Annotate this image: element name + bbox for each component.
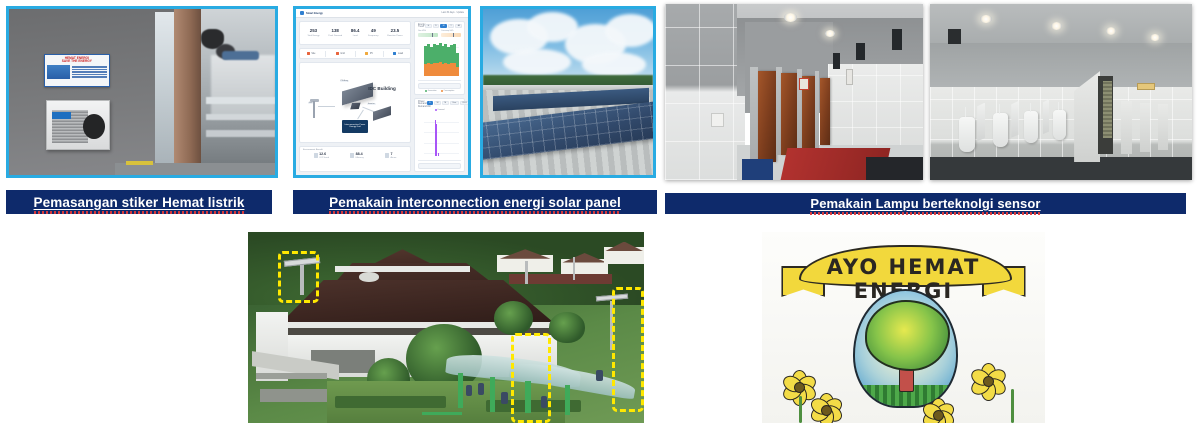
person — [478, 383, 484, 395]
streetlight-pole — [525, 261, 527, 284]
sensor-downlight — [980, 15, 992, 24]
chart-bars — [424, 41, 459, 76]
stall-frame — [750, 67, 758, 159]
urinal-divider — [1011, 101, 1018, 138]
tree — [494, 301, 534, 335]
photo-building-aerial — [248, 232, 644, 423]
stall-frame — [815, 71, 820, 148]
divider — [383, 51, 384, 57]
urinal — [993, 113, 1008, 146]
chart-subtitle: Demand kW — [418, 106, 431, 108]
dashboard-topbar-status: Last 30 days · Update — [442, 12, 464, 14]
chart-header: Energy Trend H D M Y All — [418, 24, 461, 28]
tab-color-swatch — [307, 52, 310, 55]
hedge — [335, 396, 446, 407]
photo-energy-dashboard: Smart Energy Last 30 days · Update 253 T… — [293, 6, 471, 178]
background-cabinet — [211, 55, 275, 118]
tab-color-swatch — [365, 52, 368, 55]
kpi-label: Frequency — [368, 35, 378, 37]
tab-grid[interactable]: Grid — [336, 52, 345, 55]
range-selector[interactable]: D W M Year 2024 — [427, 101, 470, 105]
urinal — [959, 117, 975, 152]
flower-stem — [1011, 389, 1014, 423]
kpi-item: 138 Peak Demand — [328, 29, 342, 37]
switch-box-label — [52, 112, 71, 120]
range-option[interactable]: Y — [448, 24, 454, 28]
floor-marking — [126, 161, 153, 165]
dashboard-left-column: 253 Total Energy 138 Peak Demand 86.4 Lo… — [299, 21, 411, 172]
legend-label: Consumption — [444, 90, 455, 92]
chart-plot-area — [418, 39, 461, 81]
range-option[interactable]: M — [442, 101, 449, 105]
divider — [325, 51, 326, 57]
wall-partition — [1158, 104, 1168, 150]
brand-label: Smart Energy — [306, 12, 323, 15]
range-option-selected[interactable]: M — [440, 24, 447, 28]
range-option[interactable]: Year — [450, 101, 459, 105]
legend-item: Demand — [435, 109, 445, 111]
chart-plot-area — [418, 114, 461, 161]
canopy-post — [490, 377, 496, 411]
tree-crown — [865, 300, 951, 370]
tab-label: Grid — [340, 53, 344, 55]
light-switch[interactable] — [711, 113, 724, 127]
caption-text: Pemasangan stiker Hemat listrik — [34, 195, 245, 210]
dashboard-right-column: Energy Trend H D M Y All Gen kWh — [414, 21, 465, 172]
range-selector[interactable]: H D M Y All — [425, 24, 462, 28]
kpi-item: 86.4 Load — [351, 29, 360, 37]
caption-text: Pemakain interconnection energi solar pa… — [329, 195, 621, 210]
stall-door — [781, 73, 796, 156]
roof-ventilator — [335, 266, 470, 272]
diagram-panel-icon — [373, 106, 391, 120]
dashboard-topbar: Smart Energy Last 30 days · Update — [296, 9, 468, 18]
environment-benefit-card: Environment Benefit 12.6 CO2 Saved — [299, 146, 411, 172]
railing — [422, 412, 462, 415]
wall-sign — [799, 78, 809, 90]
legend-label: Generation — [428, 90, 437, 92]
flower-stem — [799, 396, 802, 423]
sticker-line-2: SAVE THE ENERGY — [62, 60, 92, 64]
kpi-value: 138 — [328, 29, 342, 33]
sticker-text-lines — [72, 65, 108, 79]
background-shelf — [206, 97, 275, 104]
range-option-selected[interactable]: D — [427, 101, 433, 105]
benefit-label: Efficiency — [356, 157, 364, 159]
caption-bar-3: Pemakain Lampu berteknolgi sensor — [665, 193, 1186, 214]
wall-vent — [856, 43, 865, 61]
urinal-pipe — [965, 107, 967, 117]
door-curtain — [1103, 81, 1112, 137]
tab-label: PV — [370, 53, 373, 55]
kpi-label: Total Energy — [307, 35, 319, 37]
diagram-panel-icon — [350, 102, 360, 108]
wall-device — [846, 69, 854, 85]
person — [466, 385, 472, 396]
legend-label: Demand — [438, 109, 445, 111]
caption-bar-2: Pemakain interconnection energi solar pa… — [293, 190, 657, 214]
caption-text: Pemakain Lampu berteknolgi sensor — [810, 196, 1040, 211]
background-object — [222, 51, 259, 61]
benefit-icon — [350, 153, 354, 158]
chart-title: Energy Trend — [418, 24, 425, 28]
urinal-pipe — [1030, 103, 1031, 112]
blue-floor-mat — [742, 159, 773, 180]
annotation-solar-streetlight-right — [612, 287, 644, 411]
chart-bar — [438, 153, 439, 156]
urinal-pipe — [999, 104, 1001, 113]
benefit-items: 12.6 CO2 Saved 88.4 Efficiency — [303, 153, 407, 159]
kpi-label: Peak Demand — [328, 35, 342, 37]
divider — [355, 51, 356, 57]
legend-item: Generation — [425, 90, 437, 92]
flower — [813, 396, 839, 422]
kpi-item: 253 Total Energy — [307, 29, 319, 37]
legend-item: Consumption — [441, 90, 455, 92]
kpi-value: 253 — [307, 29, 319, 33]
power-demand-chart: Power Demand D W M Year 2024 Demand kW — [414, 98, 465, 172]
chart-range-slider[interactable] — [418, 163, 461, 169]
streetlight-pole — [573, 257, 575, 280]
tab-color-swatch — [336, 52, 339, 55]
chart-gauges: Gen kWh Consump kWh — [418, 30, 461, 37]
benefit-icon — [385, 153, 389, 158]
gauge-consumption: Consump kWh — [441, 30, 461, 37]
chart-legend: Demand — [418, 109, 461, 111]
system-diagram-card: Grid PV Array Inverter IDC Building Inte… — [299, 62, 411, 143]
kpi-label: Reactive Power — [387, 35, 402, 37]
diagram-side-label: Inverter — [367, 103, 375, 105]
flower — [923, 400, 951, 423]
photo-restroom-urinals — [930, 4, 1192, 180]
canopy-post — [565, 385, 571, 416]
sensor-downlight — [1106, 27, 1116, 35]
chart-range-slider[interactable] — [418, 83, 461, 89]
gauge-generation: Gen kWh — [418, 30, 438, 37]
tab-label: Site — [311, 53, 315, 55]
annotation-solar-streetlight-left — [278, 251, 320, 303]
tab-label: Load — [398, 53, 403, 55]
background-shelf — [206, 130, 275, 137]
background-shelf — [206, 114, 275, 121]
stall-door — [758, 71, 776, 163]
cloud — [605, 14, 656, 47]
gauge-bar — [441, 33, 461, 37]
stall-door — [820, 78, 830, 145]
person — [501, 392, 507, 403]
tab-pv[interactable]: PV — [365, 52, 373, 55]
cloud — [582, 52, 647, 77]
diagram-node-box: Interconnection Power Energy Grid — [342, 120, 368, 133]
dashboard-canvas: Smart Energy Last 30 days · Update 253 T… — [296, 9, 468, 175]
chart-title: Power Demand — [418, 101, 427, 105]
flower-center — [933, 410, 944, 421]
lightbulb-illustration — [853, 289, 959, 408]
chart-bars — [424, 116, 459, 156]
wall-vent — [833, 53, 841, 69]
floor — [930, 157, 1192, 180]
wall-vent — [892, 29, 902, 50]
urinal-divider — [1043, 99, 1050, 134]
dark-floor-mat — [866, 157, 923, 180]
dashboard-tab-row[interactable]: Site Grid PV Load — [299, 48, 411, 59]
gauge-label: Consump kWh — [441, 30, 461, 32]
door-frame — [174, 6, 201, 178]
collage-page: HEMAT ENERGI SAVE THE ENERGY Smart Energ… — [0, 0, 1200, 423]
kpi-label: Load — [351, 35, 360, 37]
kpi-card: 253 Total Energy 138 Peak Demand 86.4 Lo… — [299, 21, 411, 45]
benefit-item: 12.6 CO2 Saved — [314, 153, 329, 159]
app-logo-icon — [300, 11, 304, 15]
chart-subheader: Demand kW — [418, 106, 461, 108]
photo-solar-panels — [480, 6, 656, 178]
photo-energy-poster: AYO HEMAT ENERGI — [762, 232, 1045, 423]
wall-vent — [948, 29, 961, 45]
energy-saving-sticker: HEMAT ENERGI SAVE THE ENERGY — [44, 54, 111, 87]
caption-bar-1: Pemasangan stiker Hemat listrik — [6, 190, 272, 214]
person — [596, 370, 602, 381]
wall-signboard — [1137, 83, 1155, 90]
kpi-item: 23.5 Reactive Power — [387, 29, 402, 37]
tab-site[interactable]: Site — [307, 52, 315, 55]
urinal — [1053, 110, 1066, 140]
tab-load[interactable]: Load — [393, 52, 403, 55]
kpi-item: 49 Frequency — [368, 29, 378, 37]
benefit-item: 88.4 Efficiency — [350, 153, 364, 159]
photo-energy-sticker: HEMAT ENERGI SAVE THE ENERGY — [6, 6, 278, 178]
diagram-link — [357, 109, 364, 119]
urinal — [1024, 111, 1038, 143]
kpi-value: 86.4 — [351, 29, 360, 33]
benefit-label: CO2 Saved — [319, 157, 329, 159]
range-option[interactable]: H — [425, 24, 431, 28]
wall-partition — [1140, 103, 1150, 152]
floor — [115, 163, 275, 175]
benefit-label: Alarms — [390, 157, 396, 159]
urinal-pipe — [1058, 102, 1059, 110]
chart-legend: Generation Consumption — [418, 90, 461, 92]
diagram-building-label: IDC Building — [368, 86, 396, 91]
sensor-downlight — [1150, 34, 1159, 41]
card-header: Environment Benefit — [303, 149, 407, 151]
building-ledge — [256, 373, 327, 379]
kpi-value: 23.5 — [387, 29, 402, 33]
range-option[interactable]: All — [455, 24, 462, 28]
chart-bar — [435, 120, 436, 156]
gauge-label: Gen kWh — [418, 30, 438, 32]
diagram-pole — [313, 101, 315, 118]
tree — [549, 312, 585, 343]
chart-bar — [436, 124, 437, 156]
diagram-link — [318, 106, 336, 107]
gauge-bar — [418, 33, 438, 37]
range-option[interactable]: 2024 — [460, 101, 469, 105]
photo-restroom-corridor — [665, 4, 923, 180]
tab-color-swatch — [393, 52, 396, 55]
dashboard-brand: Smart Energy — [300, 11, 323, 15]
electrical-switch-box — [46, 100, 110, 150]
canopy-post — [458, 373, 464, 407]
flower — [969, 362, 1007, 400]
roof-fixture — [359, 272, 379, 282]
range-option[interactable]: W — [434, 101, 441, 105]
energy-trend-chart: Energy Trend H D M Y All Gen kWh — [414, 21, 465, 95]
range-option[interactable]: D — [433, 24, 439, 28]
wall-left-surface — [9, 9, 174, 175]
left-tiled-wall — [665, 4, 745, 180]
switch-box-knob — [83, 114, 105, 139]
chart-bar — [456, 41, 459, 76]
benefit-item: 7 Alarms — [385, 153, 396, 159]
kpi-value: 49 — [368, 29, 378, 33]
urinal-divider — [977, 103, 985, 142]
chart-header: Power Demand D W M Year 2024 — [418, 101, 461, 105]
sensor-downlight — [784, 13, 797, 22]
sticker-body — [45, 65, 110, 79]
diagram-side-label: PV Array — [340, 80, 349, 82]
benefit-icon — [314, 153, 318, 158]
annotation-walkway-canopy — [511, 333, 551, 423]
wall-partition — [1121, 101, 1131, 154]
sticker-illustration — [47, 65, 70, 79]
